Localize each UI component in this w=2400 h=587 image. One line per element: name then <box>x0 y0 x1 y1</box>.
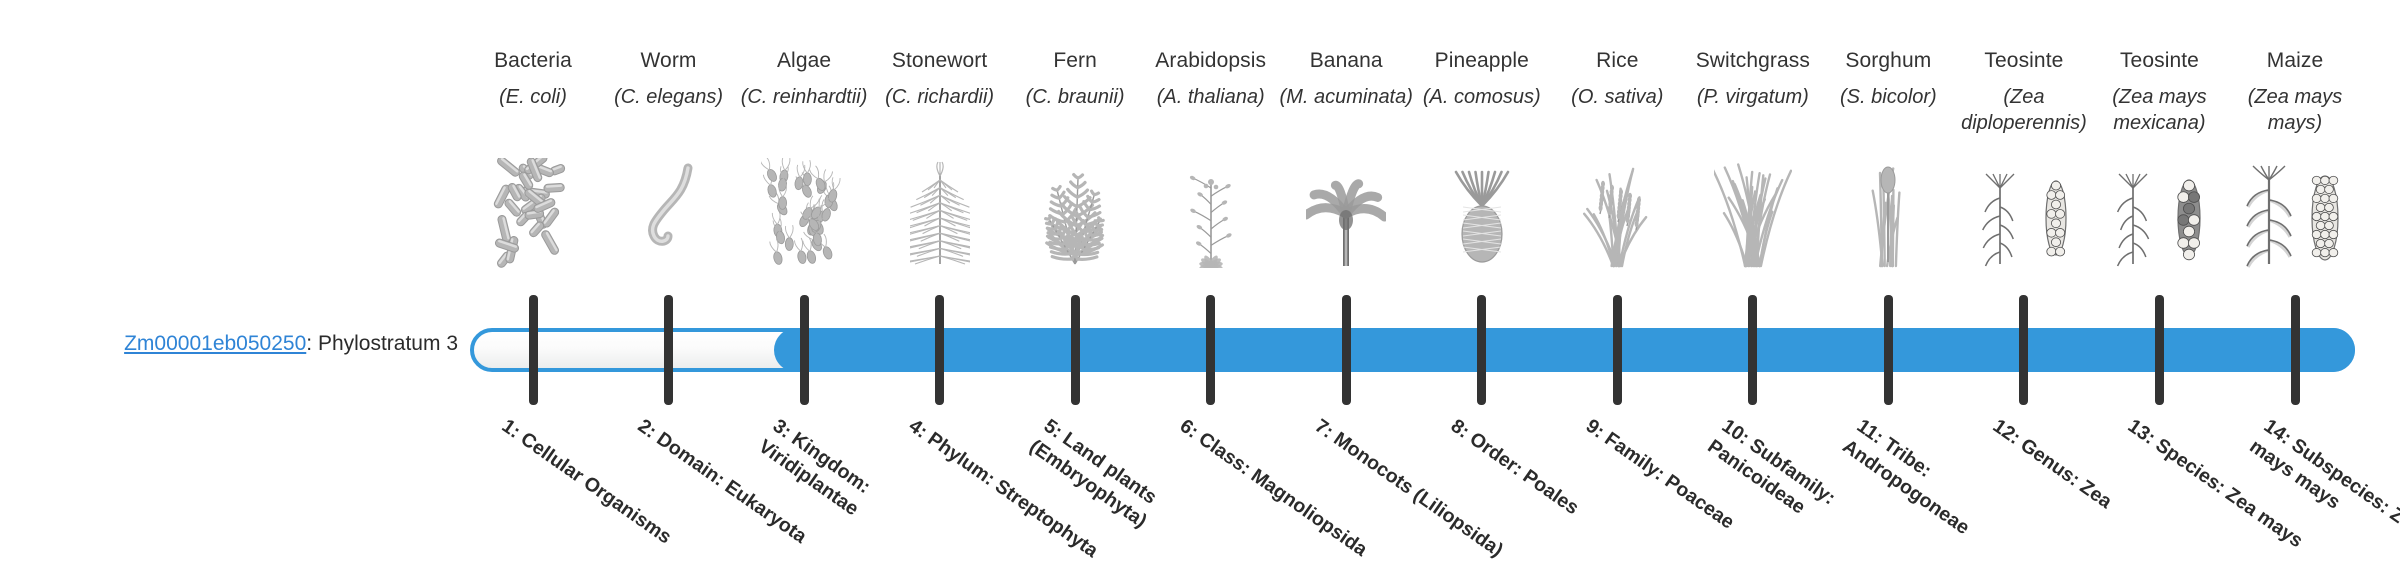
species-common-name: Bacteria <box>458 48 608 74</box>
stratum-label-14: 14: Subspecies: Zea mays mays <box>2244 414 2400 587</box>
stratum-tick-8[interactable] <box>1477 295 1486 405</box>
stratum-tick-5[interactable] <box>1071 295 1080 405</box>
species-column-bacteria: Bacteria(E. coli) <box>458 48 608 136</box>
species-scientific-name: (O. sativa) <box>1542 84 1692 136</box>
species-scientific-name: (A. comosus) <box>1407 84 1557 136</box>
banana-illustration <box>1271 158 1421 268</box>
teosinte-mexicana-illustration <box>2084 158 2234 268</box>
phylostratum-figure: Zm00001eb050250: Phylostratum 3 Bacteria… <box>0 0 2400 580</box>
species-scientific-name: (M. acuminata) <box>1271 84 1421 136</box>
fern-illustration <box>1000 158 1150 268</box>
teosinte-diploperennis-illustration <box>1949 158 2099 268</box>
species-scientific-name: (C. reinhardtii) <box>729 84 879 136</box>
species-scientific-name: (E. coli) <box>458 84 608 136</box>
stratum-tick-6[interactable] <box>1206 295 1215 405</box>
species-column-stonewort: Stonewort(C. richardii) <box>865 48 1015 136</box>
species-scientific-name: (Zea mays mexicana) <box>2084 84 2234 136</box>
rice-illustration <box>1542 158 1692 268</box>
species-common-name: Maize <box>2220 48 2370 74</box>
species-common-name: Sorghum <box>1813 48 1963 74</box>
species-common-name: Switchgrass <box>1678 48 1828 74</box>
species-common-name: Teosinte <box>2084 48 2234 74</box>
gene-phylostratum-label: Zm00001eb050250: Phylostratum 3 <box>38 331 458 356</box>
species-scientific-name: (C. richardii) <box>865 84 1015 136</box>
stratum-tick-13[interactable] <box>2155 295 2164 405</box>
gene-label-separator: : <box>306 332 318 355</box>
stratum-tick-12[interactable] <box>2019 295 2028 405</box>
gene-id-link[interactable]: Zm00001eb050250 <box>124 332 306 355</box>
stratum-tick-14[interactable] <box>2291 295 2300 405</box>
species-common-name: Teosinte <box>1949 48 2099 74</box>
species-common-name: Worm <box>594 48 744 74</box>
pineapple-illustration <box>1407 158 1557 268</box>
stratum-name: Order: Poales <box>1465 428 1582 519</box>
stratum-tick-2[interactable] <box>664 295 673 405</box>
species-column-switchgrass: Switchgrass(P. virgatum) <box>1678 48 1828 136</box>
stratum-number: 12: <box>1989 415 2025 449</box>
stratum-tick-4[interactable] <box>935 295 944 405</box>
stratum-tick-3[interactable] <box>800 295 809 405</box>
bacteria-illustration <box>458 158 608 268</box>
species-scientific-name: (Zea mays mays) <box>2220 84 2370 136</box>
species-scientific-name: (Zea diploperennis) <box>1949 84 2099 136</box>
species-common-name: Rice <box>1542 48 1692 74</box>
algae-illustration <box>729 158 879 268</box>
stonewort-illustration <box>865 158 1015 268</box>
species-scientific-name: (C. braunii) <box>1000 84 1150 136</box>
stratum-tick-7[interactable] <box>1342 295 1351 405</box>
species-column-worm: Worm(C. elegans) <box>594 48 744 136</box>
species-common-name: Arabidopsis <box>1136 48 1286 74</box>
arabidopsis-illustration <box>1136 158 1286 268</box>
species-common-name: Algae <box>729 48 879 74</box>
species-scientific-name: (A. thaliana) <box>1136 84 1286 136</box>
phylostratum-progress-bar[interactable] <box>470 328 2355 372</box>
species-scientific-name: (C. elegans) <box>594 84 744 136</box>
species-common-name: Stonewort <box>865 48 1015 74</box>
species-common-name: Banana <box>1271 48 1421 74</box>
species-column-algae: Algae(C. reinhardtii) <box>729 48 879 136</box>
stratum-tick-9[interactable] <box>1613 295 1622 405</box>
sorghum-illustration <box>1813 158 1963 268</box>
species-column-rice: Rice(O. sativa) <box>1542 48 1692 136</box>
species-column-teosinte: Teosinte(Zea diploperennis) <box>1949 48 2099 136</box>
stratum-number: 13: <box>2124 415 2160 449</box>
maize-illustration <box>2220 158 2370 268</box>
stratum-tick-11[interactable] <box>1884 295 1893 405</box>
species-column-fern: Fern(C. braunii) <box>1000 48 1150 136</box>
switchgrass-illustration <box>1678 158 1828 268</box>
species-column-banana: Banana(M. acuminata) <box>1271 48 1421 136</box>
species-column-sorghum: Sorghum(S. bicolor) <box>1813 48 1963 136</box>
stratum-tick-10[interactable] <box>1748 295 1757 405</box>
stratum-name: Genus: Zea <box>2016 434 2116 513</box>
species-column-arabidopsis: Arabidopsis(A. thaliana) <box>1136 48 1286 136</box>
species-column-maize: Maize(Zea mays mays) <box>2220 48 2370 136</box>
species-scientific-name: (P. virgatum) <box>1678 84 1828 136</box>
progress-bar-fill <box>774 328 2355 372</box>
phylostratum-value-text: Phylostratum 3 <box>318 332 458 355</box>
species-column-pineapple: Pineapple(A. comosus) <box>1407 48 1557 136</box>
nematode-illustration <box>594 158 744 268</box>
species-common-name: Fern <box>1000 48 1150 74</box>
species-column-teosinte: Teosinte(Zea mays mexicana) <box>2084 48 2234 136</box>
stratum-tick-1[interactable] <box>529 295 538 405</box>
species-scientific-name: (S. bicolor) <box>1813 84 1963 136</box>
species-common-name: Pineapple <box>1407 48 1557 74</box>
